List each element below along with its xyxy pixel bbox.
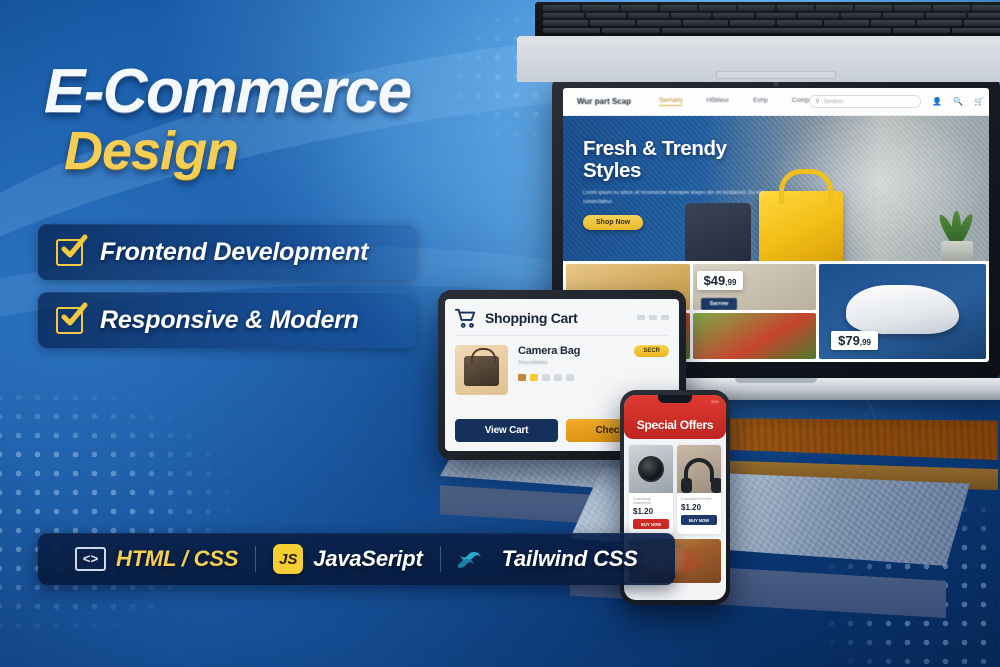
shopping-cart-icon bbox=[455, 308, 477, 327]
page-subtitle: Design bbox=[64, 124, 410, 178]
product-card-produce[interactable] bbox=[693, 313, 817, 359]
site-logo[interactable]: Wur part Scap bbox=[577, 97, 631, 106]
nav-link-3[interactable]: Eshp bbox=[753, 97, 768, 106]
product-grid-column-right: $79 ,99 bbox=[819, 264, 986, 359]
product-card-sunglasses[interactable]: $49 ,99 Sarrow bbox=[693, 264, 817, 310]
hero-copy: Fresh & Trendy Styles Lorem ipsum eu odo… bbox=[583, 138, 773, 230]
cart-title: Shopping Cart bbox=[485, 310, 578, 326]
cart-item-row: Camera Bag 1leycontaeos SECR bbox=[455, 345, 669, 395]
product-description: 1leycontaeos bbox=[518, 360, 624, 366]
buy-now-button[interactable]: BUY NOW bbox=[681, 515, 717, 525]
user-icon[interactable]: 👤 bbox=[932, 98, 942, 106]
product-badge: SECR bbox=[634, 345, 669, 357]
page-title: E-Commerce bbox=[44, 62, 410, 122]
feature-item-responsive-modern[interactable]: Responsive & Modern bbox=[38, 292, 416, 348]
headline-block: E-Commerce Design bbox=[44, 62, 410, 178]
view-cart-button[interactable]: View Cart bbox=[455, 419, 558, 442]
phone-product-card-headphones[interactable]: Cuarolatd Intl Hrins $1.20 BUY NOW bbox=[677, 445, 721, 534]
tech-label: Tailwind CSS bbox=[502, 546, 638, 572]
nav-link-1[interactable]: Sernarq bbox=[659, 97, 682, 106]
tech-label: HTML / CSS bbox=[116, 546, 238, 572]
special-offers-title: Special Offers bbox=[637, 418, 714, 432]
tech-label: JavaSeript bbox=[313, 546, 422, 572]
product-thumbnail[interactable] bbox=[455, 345, 508, 395]
phone-product-price: $1.20 bbox=[633, 507, 669, 516]
phone-product-price: $1.20 bbox=[681, 503, 717, 512]
shop-now-button[interactable]: Shop Now bbox=[583, 215, 643, 230]
hero-heading-line2: Styles bbox=[583, 160, 773, 182]
sneaker-image bbox=[846, 285, 959, 334]
headphones-image bbox=[677, 445, 721, 493]
search-icon[interactable]: 🔍 bbox=[953, 98, 963, 106]
phone-product-desc: Cnarmazgi Hawnelenk bbox=[633, 497, 669, 505]
feature-item-frontend-development[interactable]: Frontend Development bbox=[38, 224, 416, 280]
tech-item-html-css[interactable]: <> HTML / CSS bbox=[58, 546, 255, 572]
tech-item-javascript[interactable]: JS JavaSeript bbox=[256, 544, 439, 574]
divider bbox=[455, 335, 669, 336]
color-swatches[interactable] bbox=[518, 374, 624, 381]
cart-header-menu[interactable] bbox=[637, 315, 669, 320]
tech-stack-bar: <> HTML / CSS JS JavaSeript Tailwind CSS bbox=[38, 533, 675, 585]
hero-paragraph: Lorem ipsum eu odore sit reconsectur ene… bbox=[583, 189, 773, 206]
checkbox-checked-icon[interactable] bbox=[56, 239, 83, 266]
checkbox-checked-icon[interactable] bbox=[56, 307, 83, 334]
site-navbar: Wur part Scap Sernarq Hбbleur Eshp Comp … bbox=[563, 88, 989, 116]
price-badge-49: $49 ,99 bbox=[697, 271, 744, 290]
navbar-actions: ⚲ Serdern 👤 🔍 🛒 bbox=[809, 95, 984, 108]
hero-decor-plant bbox=[931, 207, 983, 261]
product-grid-column-mid: $49 ,99 Sarrow bbox=[693, 264, 817, 359]
javascript-badge-icon: JS bbox=[273, 544, 303, 574]
buy-now-button[interactable]: BUY NOW bbox=[633, 519, 669, 529]
phone-notch bbox=[658, 395, 692, 403]
price-badge-79: $79 ,99 bbox=[831, 331, 878, 350]
laptop-trackpad[interactable] bbox=[716, 71, 836, 79]
site-search-input[interactable]: ⚲ Serdern bbox=[809, 95, 921, 108]
banner-stage: Wur part Scap Sernarq Hбbleur Eshp Comp … bbox=[0, 0, 1000, 667]
tailwind-wave-icon bbox=[458, 548, 492, 570]
feature-label: Responsive & Modern bbox=[100, 306, 359, 335]
laptop-keyboard[interactable] bbox=[535, 2, 1000, 36]
nav-link-2[interactable]: Hбbleur bbox=[706, 97, 729, 106]
cart-header: Shopping Cart bbox=[455, 308, 669, 327]
tech-item-tailwind-css[interactable]: Tailwind CSS bbox=[441, 546, 655, 572]
hero-banner: Fresh & Trendy Styles Lorem ipsum eu odo… bbox=[563, 116, 989, 261]
site-nav-links: Sernarq Hбbleur Eshp Comp bbox=[659, 97, 809, 106]
cart-icon[interactable]: 🛒 bbox=[974, 98, 984, 106]
search-icon: ⚲ bbox=[815, 98, 819, 105]
phone-product-card-watch[interactable]: Cnarmazgi Hawnelenk $1.20 BUY NOW bbox=[629, 445, 673, 534]
feature-list: Frontend Development Responsive & Modern bbox=[38, 224, 416, 360]
product-action-button[interactable]: Sarrow bbox=[701, 298, 738, 310]
search-placeholder: Serdern bbox=[824, 99, 844, 105]
laptop-keyboard-deck bbox=[517, 36, 1000, 82]
watch-image bbox=[629, 445, 673, 493]
code-brackets-icon: <> bbox=[75, 547, 106, 571]
nav-link-4[interactable]: Comp bbox=[792, 97, 809, 106]
feature-label: Frontend Development bbox=[100, 238, 368, 267]
hero-heading-line1: Fresh & Trendy bbox=[583, 138, 773, 160]
phone-product-desc: Cuarolatd Intl Hrins bbox=[681, 497, 717, 501]
product-card-sneakers[interactable]: $79 ,99 bbox=[819, 264, 986, 359]
status-bar-text: 99% bbox=[711, 399, 719, 404]
product-name: Camera Bag bbox=[518, 345, 624, 357]
phone-product-grid: Cnarmazgi Hawnelenk $1.20 BUY NOW Cuarol… bbox=[624, 439, 726, 534]
